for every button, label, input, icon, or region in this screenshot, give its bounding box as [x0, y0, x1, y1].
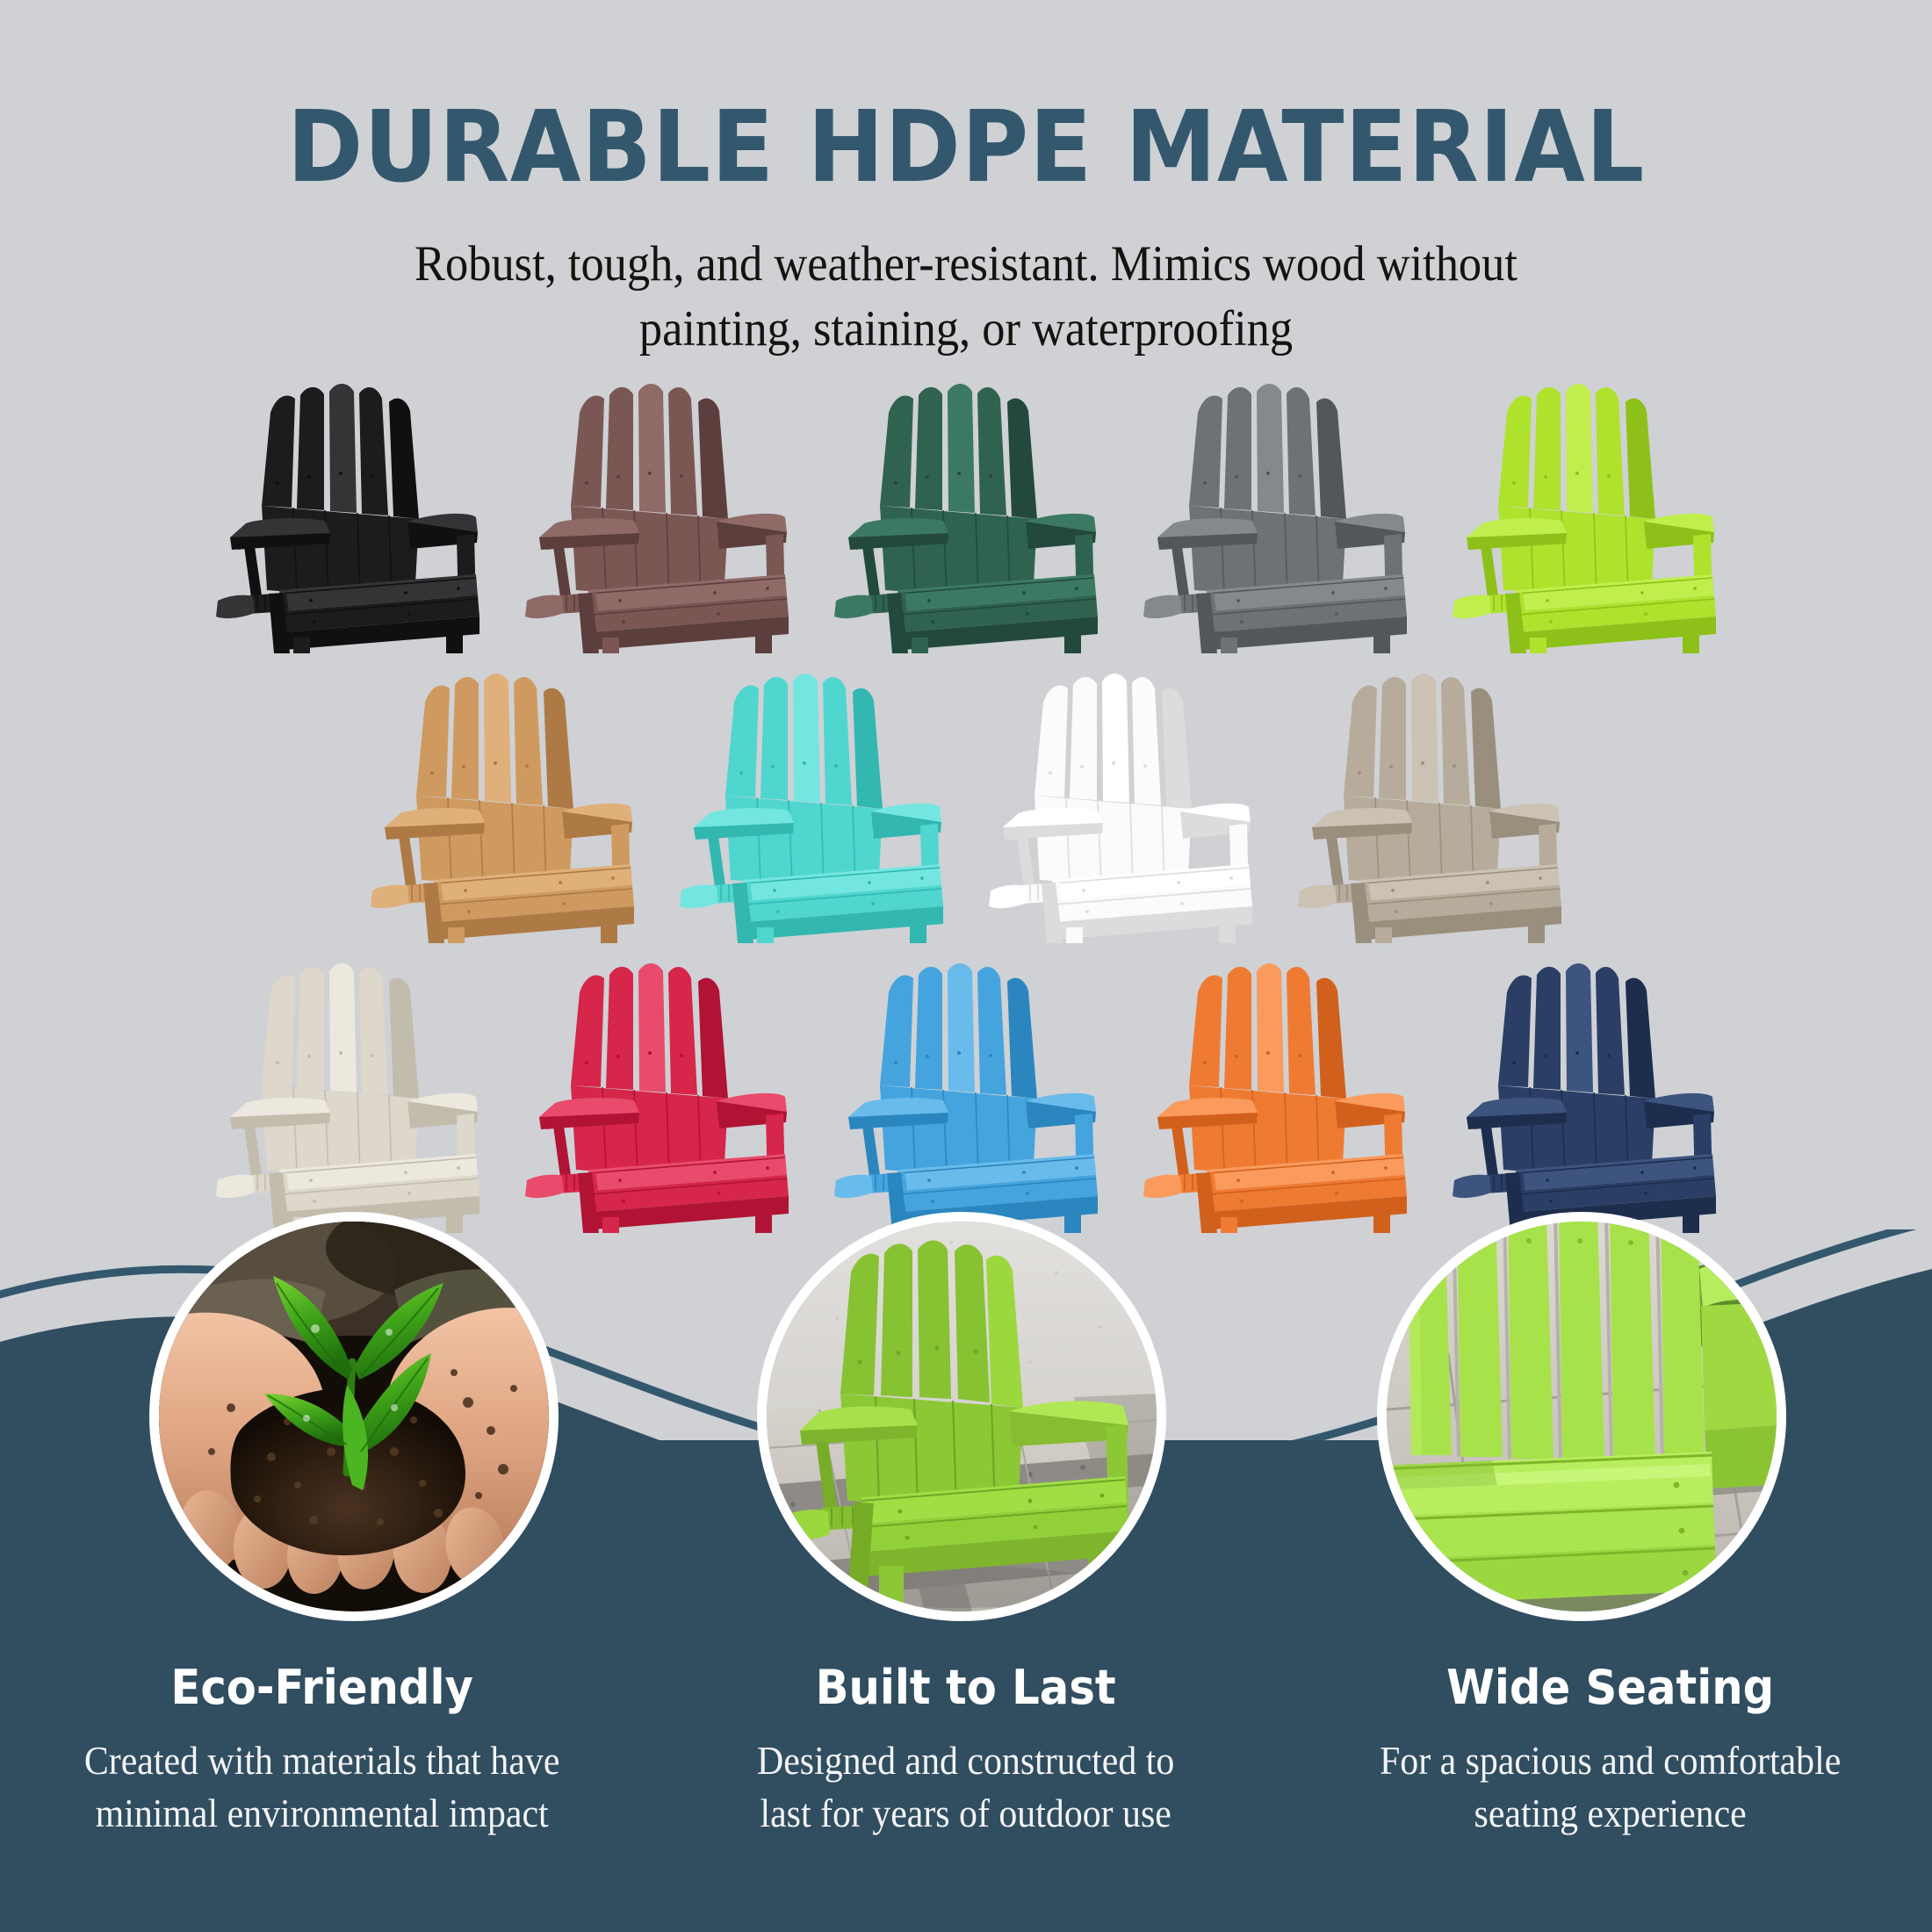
- chair-back: [416, 674, 573, 890]
- chair-orange: [1143, 954, 1407, 1233]
- chair-row-3: [0, 948, 1932, 1238]
- chair-front-nose: [1143, 1175, 1182, 1198]
- feature-title-wide-seating: Wide Seating: [1314, 1664, 1907, 1712]
- chair-black: [216, 374, 479, 653]
- feature-caption-built-to-last: Built to Last Designed and constructed t…: [644, 1664, 1287, 1841]
- feature-desc-built-to-last: Designed and constructed to last for yea…: [667, 1712, 1265, 1841]
- subtitle-line-2: painting, staining, or waterproofing: [77, 297, 1855, 362]
- chair-light-blue: [834, 954, 1098, 1233]
- chair-swatch-red[interactable]: [502, 948, 811, 1238]
- feature-image-wide-seating: [1377, 1212, 1786, 1621]
- chair-back: [1498, 963, 1655, 1180]
- chair-front-nose: [989, 885, 1027, 908]
- feature-captions: Eco-Friendly Created with materials that…: [0, 1664, 1932, 1841]
- chair-gray: [1143, 374, 1407, 653]
- chair-front-nose: [371, 885, 409, 908]
- header-block: DURABLE HDPE MATERIAL Robust, tough, and…: [0, 0, 1932, 362]
- chair-back: [725, 674, 883, 890]
- page-title: DURABLE HDPE MATERIAL: [68, 0, 1864, 197]
- chair-swatch-black[interactable]: [193, 369, 502, 659]
- chair-back: [1189, 384, 1346, 601]
- chair-weathered-wood: [1298, 664, 1561, 943]
- chair-teak: [371, 664, 634, 943]
- chair-back: [262, 963, 419, 1180]
- chair-color-grid: [0, 369, 1932, 1256]
- chair-front-nose: [216, 1175, 255, 1198]
- chair-back: [880, 963, 1037, 1180]
- chair-front-nose: [834, 595, 873, 618]
- chair-turquoise: [680, 664, 943, 943]
- chair-swatch-ivory[interactable]: [193, 948, 502, 1238]
- feature-title-eco-friendly: Eco-Friendly: [25, 1664, 618, 1712]
- chair-brown: [525, 374, 789, 653]
- feature-desc-line-1: Designed and constructed to: [667, 1734, 1265, 1787]
- page-subtitle: Robust, tough, and weather-resistant. Mi…: [77, 197, 1855, 362]
- chair-navy-blue: [1453, 954, 1716, 1233]
- chair-swatch-brown[interactable]: [502, 369, 811, 659]
- feature-caption-wide-seating: Wide Seating For a spacious and comforta…: [1288, 1664, 1932, 1841]
- feature-title-built-to-last: Built to Last: [670, 1664, 1263, 1712]
- feature-desc-wide-seating: For a spacious and comfortable seating e…: [1310, 1712, 1909, 1841]
- feature-circles: [0, 1212, 1932, 1625]
- feature-desc-eco-friendly: Created with materials that have minimal…: [23, 1712, 622, 1841]
- chair-swatch-lime-green[interactable]: [1430, 369, 1739, 659]
- chair-swatch-white[interactable]: [966, 659, 1275, 948]
- chair-dark-green: [834, 374, 1098, 653]
- chair-front-nose: [680, 885, 718, 908]
- chair-row-2: [0, 659, 1932, 948]
- chair-front-nose: [1453, 1175, 1491, 1198]
- chair-back: [262, 384, 419, 601]
- chair-swatch-teak[interactable]: [348, 659, 657, 948]
- chair-swatch-navy-blue[interactable]: [1430, 948, 1739, 1238]
- chair-red: [525, 954, 789, 1233]
- feature-desc-line-2: last for years of outdoor use: [667, 1787, 1265, 1840]
- feature-image-eco-friendly: [149, 1212, 559, 1621]
- chair-white: [989, 664, 1252, 943]
- chair-swatch-dark-green[interactable]: [811, 369, 1121, 659]
- subtitle-line-1: Robust, tough, and weather-resistant. Mi…: [77, 232, 1855, 297]
- chair-back: [880, 384, 1037, 601]
- chair-front-nose: [1453, 595, 1491, 618]
- chair-back: [571, 384, 728, 601]
- feature-caption-eco-friendly: Eco-Friendly Created with materials that…: [0, 1664, 644, 1841]
- chair-front-nose: [525, 595, 564, 618]
- chair-front-nose: [525, 1175, 564, 1198]
- chair-back: [1034, 674, 1192, 890]
- feature-image-built-to-last: [757, 1212, 1166, 1621]
- feature-desc-line-2: seating experience: [1310, 1787, 1909, 1840]
- chair-row-1: [0, 369, 1932, 659]
- infographic-canvas: DURABLE HDPE MATERIAL Robust, tough, and…: [0, 0, 1932, 1932]
- chair-swatch-gray[interactable]: [1121, 369, 1430, 659]
- chair-swatch-orange[interactable]: [1121, 948, 1430, 1238]
- chair-front-nose: [834, 1175, 873, 1198]
- chair-back: [1344, 674, 1501, 890]
- chair-back: [1498, 384, 1655, 601]
- chair-swatch-weathered-wood[interactable]: [1275, 659, 1584, 948]
- chair-back: [1189, 963, 1346, 1180]
- chair-lime-green: [1453, 374, 1716, 653]
- chair-front-nose: [1298, 885, 1337, 908]
- chair-swatch-turquoise[interactable]: [657, 659, 966, 948]
- chair-front-nose: [1143, 595, 1182, 618]
- chair-front-nose: [216, 595, 255, 618]
- chair-back: [571, 963, 728, 1180]
- feature-desc-line-2: minimal environmental impact: [23, 1787, 622, 1840]
- feature-desc-line-1: Created with materials that have: [23, 1734, 622, 1787]
- chair-ivory: [216, 954, 479, 1233]
- chair-swatch-light-blue[interactable]: [811, 948, 1121, 1238]
- feature-desc-line-1: For a spacious and comfortable: [1310, 1734, 1909, 1787]
